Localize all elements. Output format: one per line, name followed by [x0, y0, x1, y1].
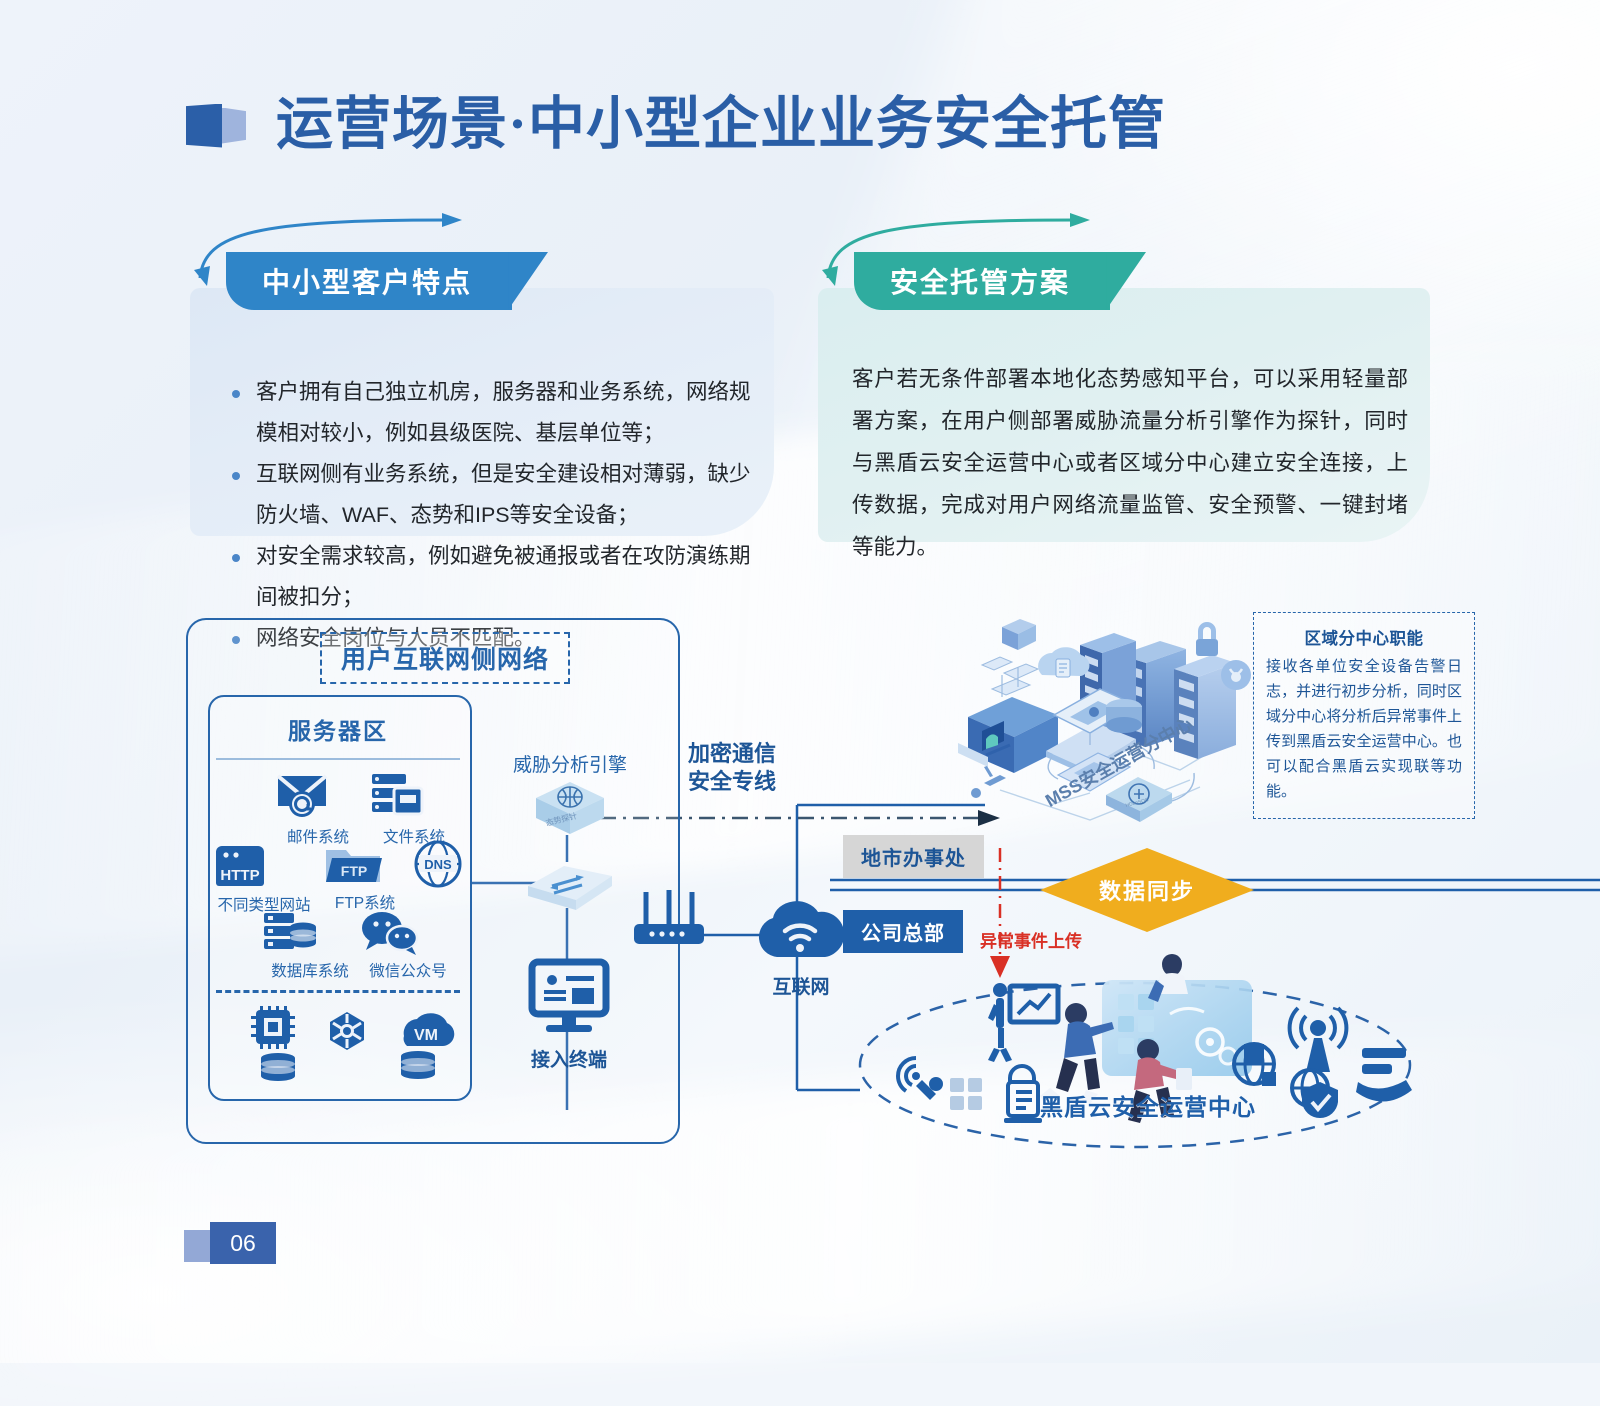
access-terminal-icon: [528, 958, 610, 1034]
divider-solid: [216, 758, 460, 760]
network-switch-icon: [524, 860, 616, 912]
internet-cloud-icon: [755, 895, 847, 967]
cpu-chip-icon: [246, 1006, 300, 1082]
encrypted-line-label: 加密通信 安全专线: [688, 740, 776, 796]
page-title: 运营场景·中小型企业业务安全托管: [276, 96, 1166, 153]
icon-label: 数据库系统: [262, 959, 358, 981]
database-system-icon: [262, 910, 318, 956]
card-right-heading: 安全托管方案: [890, 261, 1070, 301]
info-box-title: 区域分中心职能: [1266, 625, 1462, 649]
server-icon-wechat: 微信公众号: [358, 910, 458, 981]
card-right-ribbon: 安全托管方案: [854, 252, 1110, 310]
virtual-icon-cpu: [246, 1006, 306, 1082]
list-item: 互联网侧有业务系统，但是安全建设相对薄弱，缺少防火墙、WAF、态势和IPS等安全…: [226, 454, 766, 536]
tag-headquarters: 公司总部: [843, 910, 963, 953]
ftp-system-icon: FTP: [322, 840, 384, 888]
list-item: 客户拥有自己独立机房，服务器和业务系统，网络规模相对较小，例如县级医院、基层单位…: [226, 372, 766, 454]
threat-analysis-engine-box: 态势探针: [522, 778, 618, 842]
internet-label: 互联网: [755, 972, 847, 999]
svg-text:VM: VM: [414, 1027, 438, 1044]
wechat-official-account-icon: [358, 910, 420, 956]
divider-dashed: [216, 990, 460, 993]
virtual-icon-node: [324, 1008, 374, 1054]
plan-paragraph: 客户若无条件部署本地化态势感知平台，可以采用轻量部署方案，在用户侧部署威胁流量分…: [852, 358, 1408, 568]
soc-label: 黑盾云安全运营中心: [1040, 1088, 1256, 1122]
svg-text:DNS: DNS: [424, 857, 452, 872]
server-icon-file: 文件系统: [368, 770, 460, 847]
zone-title: 用户互联网侧网络: [320, 632, 570, 684]
regional-center-info-box: 区域分中心职能 接收各单位安全设备告警日志，并进行初步分析，同时区域分中心将分析…: [1253, 612, 1475, 819]
dns-icon: DNS: [412, 838, 464, 890]
card-body-left: 客户拥有自己独立机房，服务器和业务系统，网络规模相对较小，例如县级医院、基层单位…: [190, 288, 774, 536]
card-body-right: 客户若无条件部署本地化态势感知平台，可以采用轻量部署方案，在用户侧部署威胁流量分…: [818, 288, 1430, 542]
container-node-icon: [324, 1008, 370, 1054]
server-icon-http: HTTP 不同类型网站: [212, 842, 316, 915]
svg-text:HTTP: HTTP: [220, 867, 259, 884]
page-title-row: 运营场景·中小型企业业务安全托管: [186, 96, 1166, 153]
server-icon-mail: 邮件系统: [272, 770, 364, 847]
info-box-text: 接收各单位安全设备告警日志，并进行初步分析，同时区域分中心将分析后异常事件上传到…: [1266, 654, 1462, 804]
page-number-badge: 06: [184, 1222, 284, 1264]
vm-cloud-icon: VM: [388, 1002, 458, 1080]
server-icon-db: 数据库系统: [262, 910, 358, 981]
mail-system-icon: [272, 770, 332, 822]
card-left-ribbon: 中小型客户特点: [226, 252, 512, 310]
icon-label: 微信公众号: [358, 959, 458, 981]
threat-engine-label: 威胁分析引擎: [513, 750, 627, 777]
server-icon-dns: DNS: [412, 838, 468, 890]
server-zone-title: 服务器区: [208, 712, 468, 746]
encrypted-line-label-1: 加密通信: [688, 740, 776, 768]
page-number-accent: [184, 1230, 212, 1262]
page-number-value: 06: [210, 1222, 276, 1264]
isometric-datacenter-illustration: HDunSOC: [940, 605, 1250, 835]
encrypted-line-label-2: 安全专线: [688, 768, 776, 796]
router-icon: [630, 890, 708, 952]
data-sync-label: 数据同步: [1099, 874, 1195, 906]
card-left-heading: 中小型客户特点: [262, 261, 472, 301]
http-website-icon: HTTP: [212, 842, 268, 890]
virtual-icon-vm: VM: [388, 1002, 464, 1080]
bookmark-icon: [186, 102, 250, 148]
tag-branch-office: 地市办事处: [843, 835, 984, 878]
access-terminal-label: 接入终端: [528, 1045, 610, 1072]
server-icon-ftp: FTP FTP系统: [322, 840, 408, 913]
upload-event-label: 异常事件上传: [980, 927, 1082, 952]
svg-text:FTP: FTP: [341, 863, 367, 879]
file-system-icon: [368, 770, 426, 822]
architecture-diagram: 用户互联网侧网络 服务器区 邮件系统 文件系统: [0, 590, 1600, 1190]
